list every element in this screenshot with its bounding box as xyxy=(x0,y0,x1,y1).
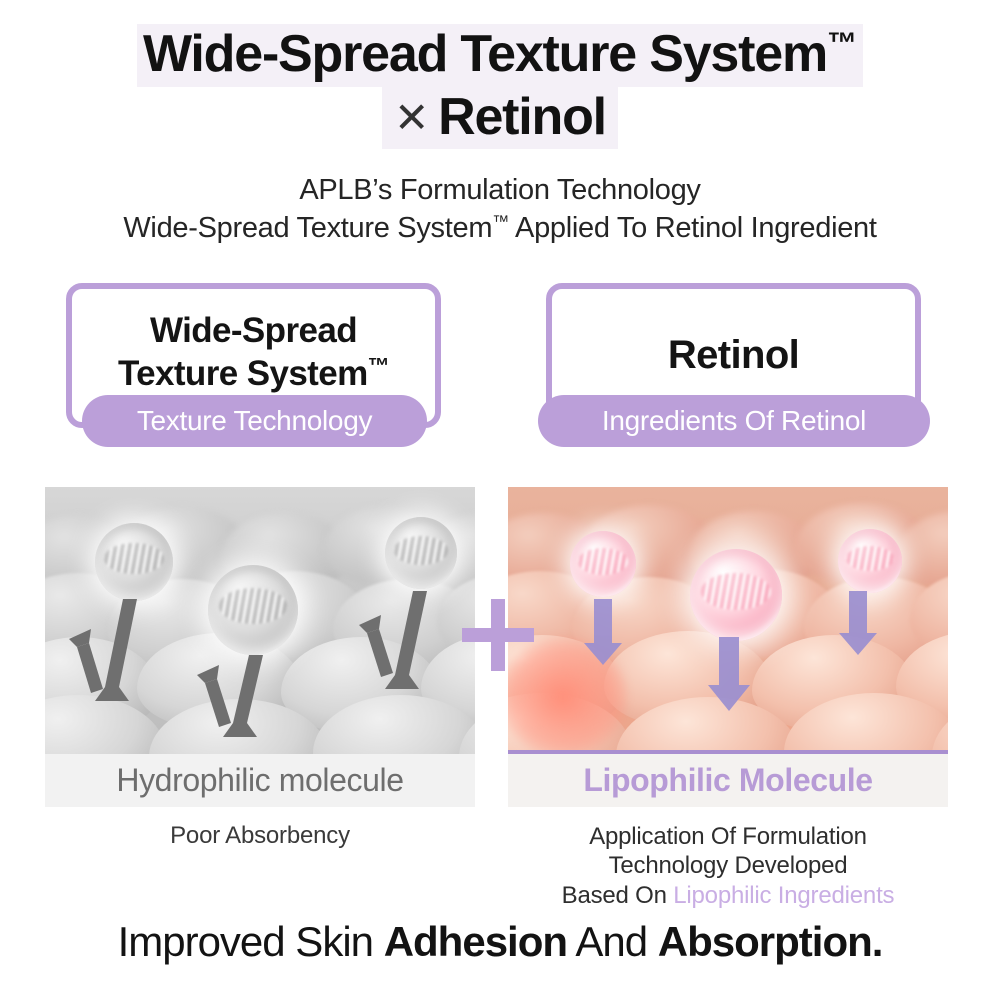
title-highlight-1: Wide-Spread Texture System™ xyxy=(137,24,863,87)
title-text-1: Wide-Spread Texture System xyxy=(143,25,827,83)
subtitle-line-2: Wide-Spread Texture System™ Applied To R… xyxy=(0,209,1000,247)
subtitle-line-2-a: Wide-Spread Texture System xyxy=(123,212,492,244)
title-highlight-2: ✕Retinol xyxy=(382,87,618,150)
footer-bold-adhesion: Adhesion xyxy=(384,918,567,965)
panel-hydrophilic: Hydrophilic molecule xyxy=(45,487,475,807)
description-lipophilic: Application Of Formulation Technology De… xyxy=(508,822,948,910)
plus-vertical-bar xyxy=(491,599,505,671)
formula-card-right-title: Retinol xyxy=(668,331,799,380)
cross-separator-icon: ✕ xyxy=(394,93,428,142)
footer-tagline: Improved Skin Adhesion And Absorption. xyxy=(0,918,1000,966)
title-line-2: ✕Retinol xyxy=(0,87,1000,150)
footer-bold-absorption: Absorption. xyxy=(658,918,883,965)
absorption-arrows-group xyxy=(508,487,948,754)
description-lipophilic-highlight: Lipophilic Ingredients xyxy=(673,882,894,909)
caption-hydrophilic: Hydrophilic molecule xyxy=(45,754,475,807)
formula-card-left-line-2: Texture System xyxy=(118,354,368,393)
formula-card-right-line-1: Retinol xyxy=(668,333,799,377)
caption-lipophilic: Lipophilic Molecule xyxy=(508,754,948,807)
badge-ingredients-of-retinol-label: Ingredients Of Retinol xyxy=(602,405,866,437)
title-text-2: Retinol xyxy=(438,88,606,146)
trademark-symbol-subtitle: ™ xyxy=(492,212,509,231)
caption-hydrophilic-label: Hydrophilic molecule xyxy=(116,762,403,799)
subtitle-line-2-b: Applied To Retinol Ingredient xyxy=(509,212,877,244)
badge-ingredients-of-retinol: Ingredients Of Retinol xyxy=(538,395,930,447)
description-hydrophilic-text: Poor Absorbency xyxy=(170,822,350,849)
description-hydrophilic: Poor Absorbency xyxy=(45,822,475,850)
formula-card-left-line-1: Wide-Spread xyxy=(150,311,357,350)
page-title: Wide-Spread Texture System™ ✕Retinol xyxy=(0,0,1000,149)
formula-row: Wide-Spread Texture System™ Texture Tech… xyxy=(0,283,1000,465)
trademark-symbol: ™ xyxy=(827,27,857,60)
rebound-arrows-group xyxy=(45,487,475,754)
footer-part-2: And xyxy=(567,918,658,965)
trademark-symbol-card: ™ xyxy=(368,353,389,378)
title-line-1: Wide-Spread Texture System™ xyxy=(0,24,1000,87)
formula-card-left-title: Wide-Spread Texture System™ xyxy=(118,310,389,401)
badge-texture-technology-label: Texture Technology xyxy=(137,405,372,437)
description-lipophilic-line-2: Technology Developed xyxy=(609,852,848,879)
subtitle: APLB’s Formulation Technology Wide-Sprea… xyxy=(0,171,1000,248)
pink-skin-cells-illustration xyxy=(508,487,948,754)
panel-lipophilic: Lipophilic Molecule xyxy=(508,487,948,807)
subtitle-line-1: APLB’s Formulation Technology xyxy=(0,171,1000,209)
description-lipophilic-line-3-a: Based On xyxy=(562,882,674,909)
footer-part-1: Improved Skin xyxy=(118,918,384,965)
caption-lipophilic-label: Lipophilic Molecule xyxy=(583,762,872,799)
grayscale-skin-cells-illustration xyxy=(45,487,475,754)
badge-texture-technology: Texture Technology xyxy=(82,395,427,447)
description-lipophilic-line-1: Application Of Formulation xyxy=(589,823,867,850)
